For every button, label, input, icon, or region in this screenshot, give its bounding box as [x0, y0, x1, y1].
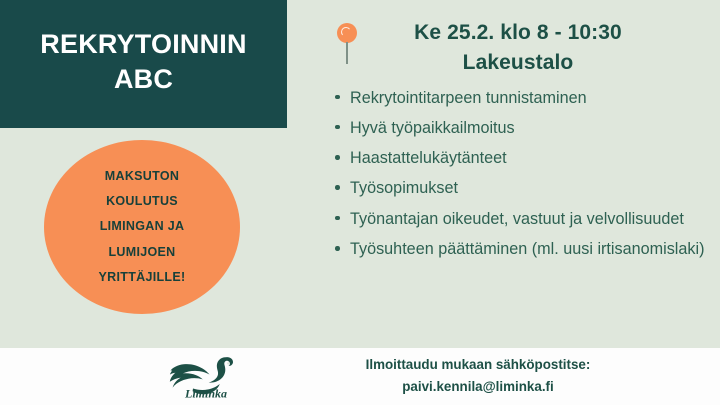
map-pin-highlight	[341, 26, 352, 37]
footer-band: Liminka Ilmoittaudu mukaan sähköpostitse…	[0, 348, 720, 405]
badge-line-2: KOULUTUS	[99, 189, 186, 214]
free-training-badge-text: MAKSUTON KOULUTUS LIMINGAN JA LUMIJOEN Y…	[99, 164, 186, 290]
poster-canvas: REKRYTOINNIN ABC MAKSUTON KOULUTUS LIMIN…	[0, 0, 720, 405]
poster-title-line2: ABC	[40, 62, 246, 97]
badge-line-1: MAKSUTON	[99, 164, 186, 189]
map-pin-icon	[337, 23, 359, 65]
footer-contact: Ilmoittaudu mukaan sähköpostitse: paivi.…	[278, 354, 720, 397]
list-item: Työnantajan oikeudet, vastuut ja velvoll…	[334, 207, 706, 232]
badge-line-5: YRITTÄJILLE!	[99, 265, 186, 290]
logo-wordmark: Liminka	[184, 387, 227, 401]
title-block: REKRYTOINNIN ABC	[0, 0, 287, 128]
map-pin-stem	[346, 42, 348, 64]
liminka-swan-logo: Liminka	[152, 351, 260, 403]
list-item: Hyvä työpaikkailmoitus	[334, 116, 706, 141]
poster-title: REKRYTOINNIN ABC	[40, 27, 246, 96]
badge-line-4: LUMIJOEN	[99, 240, 186, 265]
topics-list: Rekrytointitarpeen tunnistaminen Hyvä ty…	[300, 86, 720, 262]
event-venue: Lakeustalo	[338, 48, 698, 78]
list-item: Rekrytointitarpeen tunnistaminen	[334, 86, 706, 111]
badge-line-3: LIMINGAN JA	[99, 214, 186, 239]
event-header: Ke 25.2. klo 8 - 10:30 Lakeustalo	[300, 0, 720, 78]
list-item: Työsopimukset	[334, 176, 706, 201]
signup-instruction: Ilmoittaudu mukaan sähköpostitse:	[278, 354, 678, 376]
event-datetime: Ke 25.2. klo 8 - 10:30	[338, 18, 698, 48]
free-training-badge: MAKSUTON KOULUTUS LIMINGAN JA LUMIJOEN Y…	[44, 140, 240, 314]
event-details-column: Ke 25.2. klo 8 - 10:30 Lakeustalo Rekryt…	[300, 0, 720, 348]
signup-email[interactable]: paivi.kennila@liminka.fi	[278, 376, 678, 398]
list-item: Haastattelukäytänteet	[334, 146, 706, 171]
list-item: Työsuhteen päättäminen (ml. uusi irtisan…	[334, 237, 706, 262]
poster-title-line1: REKRYTOINNIN	[40, 29, 246, 59]
